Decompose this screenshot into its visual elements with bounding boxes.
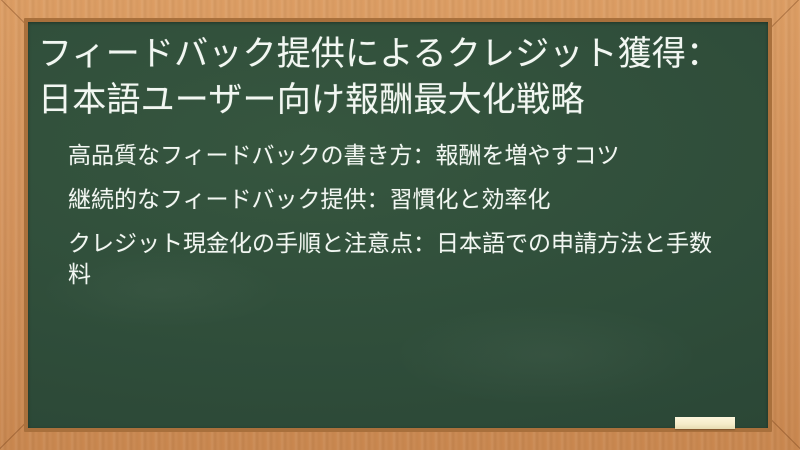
slide-title: フィードバック提供によるクレジット獲得：日本語ユーザー向け報酬最大化戦略 bbox=[38, 32, 754, 123]
blackboard-slide: フィードバック提供によるクレジット獲得：日本語ユーザー向け報酬最大化戦略 高品質… bbox=[0, 0, 800, 450]
topic-list-item: 継続的なフィードバック提供：習慣化と効率化 bbox=[68, 185, 734, 216]
topic-list-item: クレジット現金化の手順と注意点：日本語での申請方法と手数料 bbox=[68, 229, 734, 291]
chalk-eraser bbox=[675, 417, 735, 429]
chalkboard: フィードバック提供によるクレジット獲得：日本語ユーザー向け報酬最大化戦略 高品質… bbox=[28, 22, 768, 428]
topic-list: 高品質なフィードバックの書き方：報酬を増やすコツ 継続的なフィードバック提供：習… bbox=[38, 141, 754, 291]
chalkboard-content: フィードバック提供によるクレジット獲得：日本語ユーザー向け報酬最大化戦略 高品質… bbox=[28, 22, 768, 428]
topic-list-item: 高品質なフィードバックの書き方：報酬を増やすコツ bbox=[68, 141, 734, 172]
